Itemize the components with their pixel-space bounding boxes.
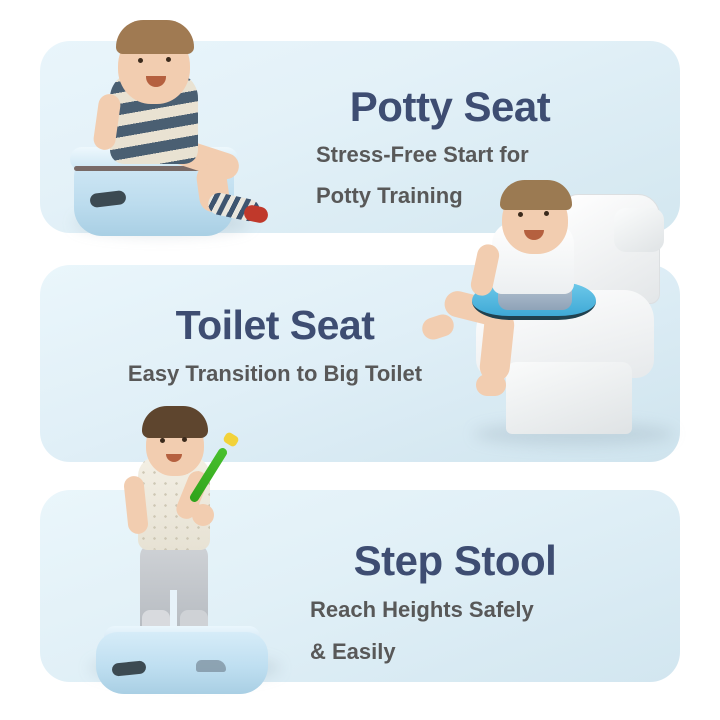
product-image-potty-seat — [48, 6, 268, 241]
panel-subtitle-potty-seat-line-2: Potty Training — [300, 182, 600, 210]
step-stool-logo — [196, 660, 226, 672]
baby-eye-right — [166, 57, 171, 62]
toddler-eye-right — [182, 437, 187, 442]
panel-subtitle-step-stool-line-2: & Easily — [300, 638, 610, 666]
panel-subtitle-step-stool-line-1: Reach Heights Safely — [300, 596, 610, 624]
baby-hair — [116, 20, 194, 54]
child-eye-right — [544, 211, 549, 216]
text-block-toilet-seat: Toilet Seat Easy Transition to Big Toile… — [105, 305, 445, 388]
toilet-pedestal — [506, 362, 632, 434]
panel-title-toilet-seat: Toilet Seat — [105, 305, 445, 346]
toothbrush-bristles — [222, 431, 240, 448]
toddler-eye-left — [160, 438, 165, 443]
child-eye-left — [518, 212, 523, 217]
panel-subtitle-potty-seat-line-1: Stress-Free Start for — [300, 141, 600, 169]
baby-eye-left — [138, 58, 143, 63]
toddler-hair — [142, 406, 208, 438]
product-image-step-stool — [96, 404, 286, 694]
text-block-step-stool: Step Stool Reach Heights Safely & Easily — [300, 540, 610, 666]
toddler-hand — [192, 504, 214, 526]
toilet-tank-lid — [614, 208, 664, 252]
product-image-toilet-seat — [420, 186, 690, 450]
panel-title-potty-seat: Potty Seat — [300, 86, 600, 128]
text-block-potty-seat: Potty Seat Stress-Free Start for Potty T… — [300, 86, 600, 210]
infographic-stage: Potty Seat Stress-Free Start for Potty T… — [0, 0, 720, 720]
panel-subtitle-toilet-seat: Easy Transition to Big Toilet — [105, 360, 445, 388]
panel-title-step-stool: Step Stool — [300, 540, 610, 582]
child-foot-right — [476, 374, 506, 396]
